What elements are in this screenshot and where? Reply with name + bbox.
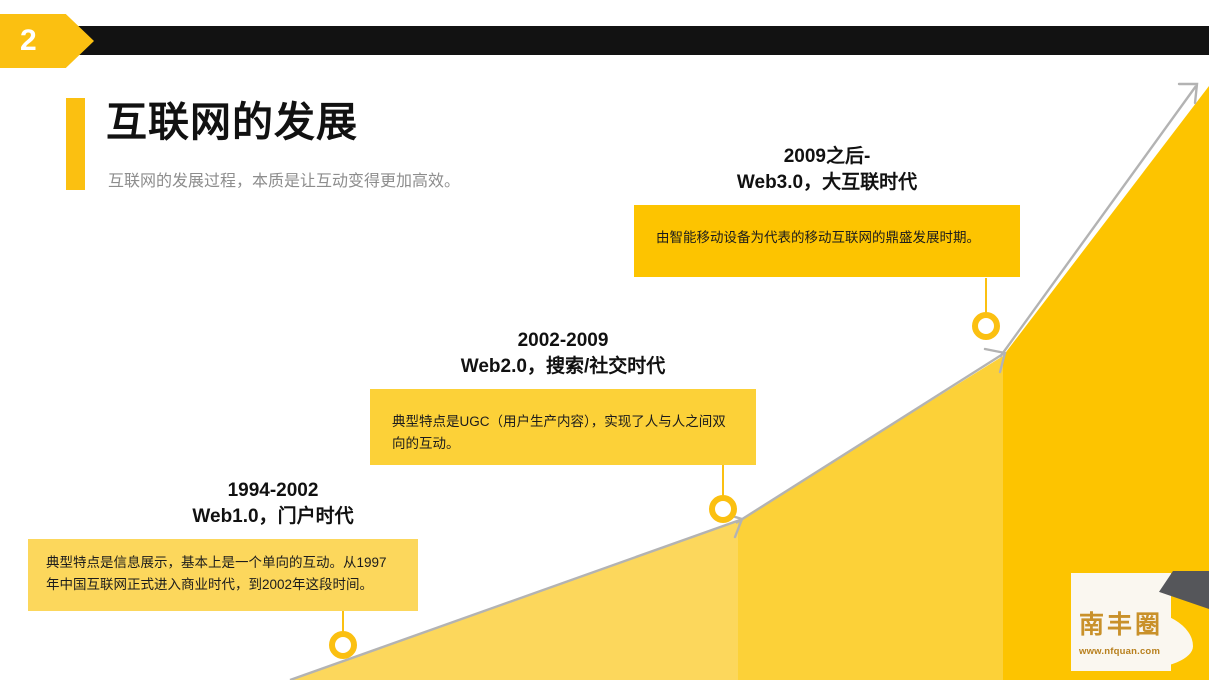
stage-3-connector-dot bbox=[972, 312, 1000, 340]
stage-2-box: 典型特点是UGC（用户生产内容），实现了人与人之间双向的互动。 bbox=[370, 389, 756, 465]
stage-3-body: 由智能移动设备为代表的移动互联网的鼎盛发展时期。 bbox=[656, 227, 998, 249]
stage-1-connector-dot bbox=[329, 631, 357, 659]
stage-3-box: 由智能移动设备为代表的移动互联网的鼎盛发展时期。 bbox=[634, 205, 1020, 277]
slide: 2 互联网的发展 互联网的发展过程，本质是让互动变得更加高效。 1994-200… bbox=[0, 0, 1209, 680]
title-accent-bar bbox=[66, 98, 85, 190]
growth-band-2 bbox=[738, 356, 1003, 680]
page-number-label: 2 bbox=[20, 26, 37, 56]
stage-1-heading: 1994-2002 Web1.0，门户时代 bbox=[28, 478, 418, 530]
stage-1-box: 典型特点是信息展示，基本上是一个单向的互动。从1997年中国互联网正式进入商业时… bbox=[28, 539, 418, 611]
stage-1-period: 1994-2002 bbox=[128, 478, 418, 504]
stage-card-3[interactable]: 2009之后- Web3.0，大互联时代 由智能移动设备为代表的移动互联网的鼎盛… bbox=[634, 144, 1020, 277]
stage-card-2[interactable]: 2002-2009 Web2.0，搜索/社交时代 典型特点是UGC（用户生产内容… bbox=[370, 328, 756, 465]
stage-2-name: Web2.0，搜索/社交时代 bbox=[370, 354, 756, 380]
stage-3-heading: 2009之后- Web3.0，大互联时代 bbox=[634, 144, 1020, 196]
stage-3-name: Web3.0，大互联时代 bbox=[634, 170, 1020, 196]
stage-2-period: 2002-2009 bbox=[370, 328, 756, 354]
stage-2-heading: 2002-2009 Web2.0，搜索/社交时代 bbox=[370, 328, 756, 380]
stage-2-body: 典型特点是UGC（用户生产内容），实现了人与人之间双向的互动。 bbox=[392, 411, 734, 455]
stage-3-period: 2009之后- bbox=[634, 144, 1020, 170]
page-subtitle: 互联网的发展过程，本质是让互动变得更加高效。 bbox=[108, 167, 460, 191]
brand-logo[interactable]: 南丰圈 www.nfquan.com bbox=[1059, 563, 1209, 680]
stage-2-connector-dot bbox=[709, 495, 737, 523]
stage-1-body: 典型特点是信息展示，基本上是一个单向的互动。从1997年中国互联网正式进入商业时… bbox=[46, 552, 400, 596]
stage-1-name: Web1.0，门户时代 bbox=[128, 504, 418, 530]
header-black-bar bbox=[75, 26, 1209, 55]
logo-url: www.nfquan.com bbox=[1079, 646, 1195, 657]
page-title: 互联网的发展 bbox=[106, 99, 358, 146]
stage-card-1[interactable]: 1994-2002 Web1.0，门户时代 典型特点是信息展示，基本上是一个单向… bbox=[28, 478, 418, 611]
logo-name: 南丰圈 bbox=[1079, 613, 1191, 638]
